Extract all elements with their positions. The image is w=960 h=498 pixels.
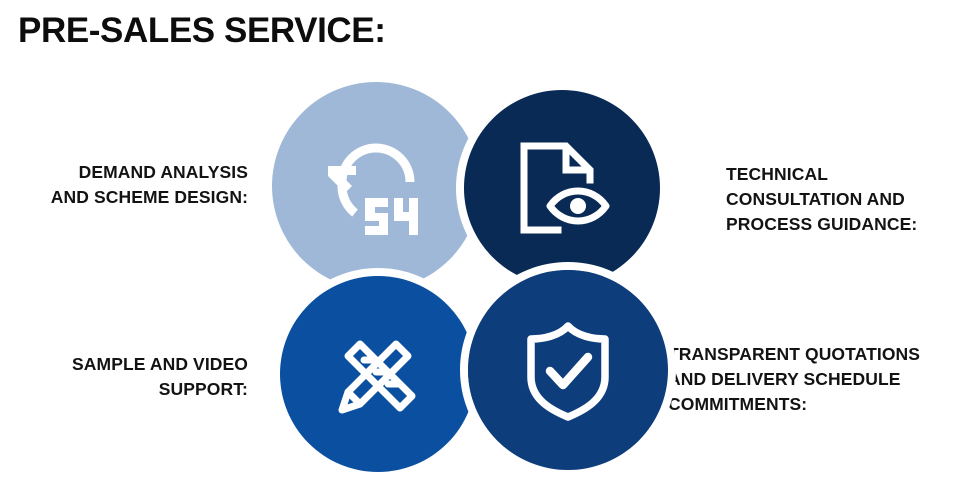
- page-title: PRE-SALES SERVICE:: [18, 12, 386, 51]
- pre-sales-service-infographic: PRE-SALES SERVICE:: [0, 0, 960, 498]
- circle-cluster: [268, 82, 672, 476]
- node-demand-analysis[interactable]: [272, 82, 480, 290]
- node-technical-consultation-disc: [464, 90, 660, 286]
- label-transparent-quotations: TRANSPARENT QUOTATIONS AND DELIVERY SCHE…: [668, 342, 960, 417]
- node-sample-video-support[interactable]: [272, 268, 484, 480]
- label-demand-analysis: DEMAND ANALYSIS AND SCHEME DESIGN:: [0, 160, 248, 210]
- node-transparent-quotations[interactable]: [460, 262, 676, 478]
- node-transparent-quotations-disc: [468, 270, 668, 470]
- pencil-ruler-design-icon: [326, 322, 430, 426]
- node-sample-video-support-disc: [280, 276, 476, 472]
- document-eye-review-icon: [514, 138, 610, 238]
- label-technical-consultation: TECHNICAL CONSULTATION AND PROCESS GUIDA…: [726, 162, 960, 237]
- shield-check-icon: [521, 319, 615, 421]
- node-demand-analysis-disc: [272, 82, 480, 290]
- label-sample-video-support: SAMPLE AND VIDEO SUPPORT:: [0, 352, 248, 402]
- 24-hour-rotate-icon: [322, 136, 430, 236]
